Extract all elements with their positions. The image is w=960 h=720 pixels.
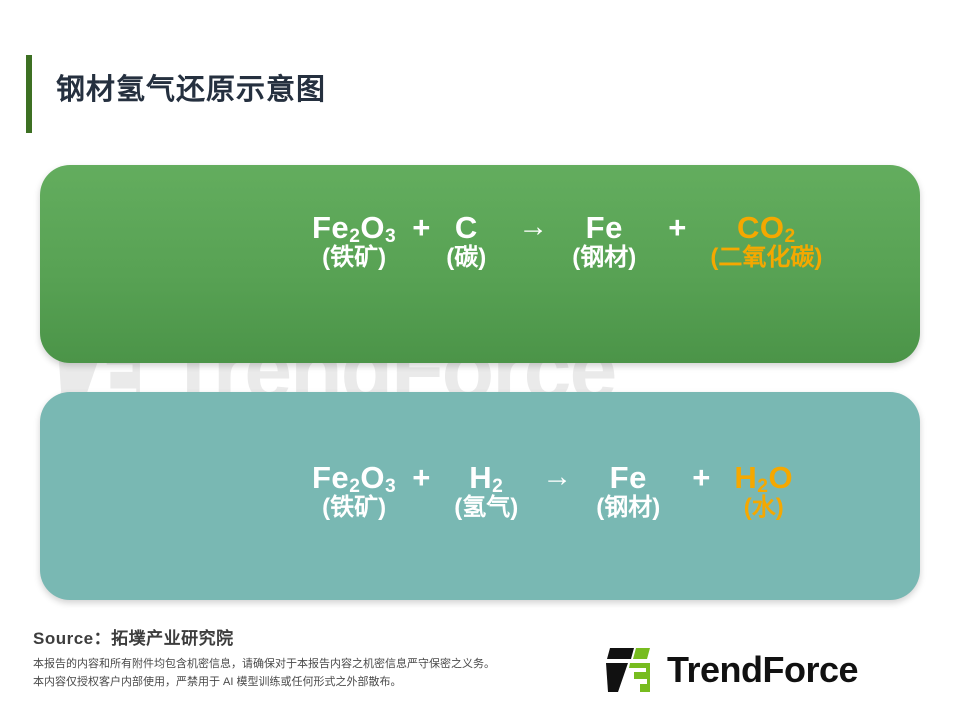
- source-label: Source：拓墣产业研究院: [33, 624, 234, 649]
- eq-name: (氢气): [454, 496, 518, 520]
- eq-name: (铁矿): [322, 246, 386, 270]
- title-accent-bar: [26, 55, 32, 133]
- eq-operator-arrow: →: [516, 212, 550, 242]
- eq-operator-plus: +: [410, 462, 432, 493]
- eq-term-carbon-dioxide: CO2 (二氧化碳): [710, 212, 822, 270]
- equation-hydrogen-reduction: Fe2O3 (铁矿) + H2 (氢气) → Fe (钢材) + H2O (水): [312, 462, 793, 520]
- disclaimer-text: 本报告的内容和所有附件均包含机密信息，请确保对于本报告内容之机密信息严守保密之义…: [33, 655, 495, 691]
- eq-operator-plus: +: [666, 212, 688, 243]
- eq-term-iron-ore: Fe2O3 (铁矿): [312, 462, 396, 520]
- eq-formula: H2: [469, 462, 503, 493]
- eq-term-steel: Fe (钢材): [596, 462, 660, 520]
- eq-formula: Fe: [610, 462, 647, 493]
- eq-operator-arrow: →: [540, 462, 574, 492]
- eq-term-carbon: C (碳): [446, 212, 486, 270]
- equation-carbon-reduction: Fe2O3 (铁矿) + C (碳) → Fe (钢材) + CO2 (二氧化碳…: [312, 212, 822, 270]
- eq-name: (碳): [446, 246, 486, 270]
- eq-term-steel: Fe (钢材): [572, 212, 636, 270]
- eq-name: (钢材): [596, 496, 660, 520]
- eq-formula: Fe2O3: [312, 212, 396, 243]
- eq-term-hydrogen: H2 (氢气): [454, 462, 518, 520]
- eq-name: (铁矿): [322, 496, 386, 520]
- eq-formula: C: [455, 212, 478, 243]
- eq-term-iron-ore: Fe2O3 (铁矿): [312, 212, 396, 270]
- trendforce-wordmark: TrendForce: [667, 652, 858, 688]
- eq-name: (二氧化碳): [710, 246, 822, 270]
- eq-formula: Fe2O3: [312, 462, 396, 493]
- eq-term-water: H2O (水): [734, 462, 793, 520]
- eq-formula: H2O: [734, 462, 793, 493]
- page-title: 钢材氢气还原示意图: [56, 66, 326, 108]
- eq-formula: Fe: [586, 212, 623, 243]
- trendforce-logo: TrendForce: [604, 646, 858, 694]
- eq-name: (钢材): [572, 246, 636, 270]
- eq-name: (水): [744, 496, 784, 520]
- disclaimer-line-1: 本报告的内容和所有附件均包含机密信息，请确保对于本报告内容之机密信息严守保密之义…: [33, 655, 495, 673]
- slide-root: TrendForce 钢材氢气还原示意图 传统碳还原 Fe2O3 (铁矿) + …: [0, 0, 960, 720]
- eq-formula: CO2: [737, 212, 796, 243]
- trendforce-mark-svg: [604, 646, 656, 694]
- disclaimer-line-2: 本内容仅授权客户内部使用，严禁用于 AI 模型训练或任何形式之外部散布。: [33, 673, 495, 691]
- trendforce-mark-icon: [604, 646, 656, 694]
- eq-operator-plus: +: [690, 462, 712, 493]
- eq-operator-plus: +: [410, 212, 432, 243]
